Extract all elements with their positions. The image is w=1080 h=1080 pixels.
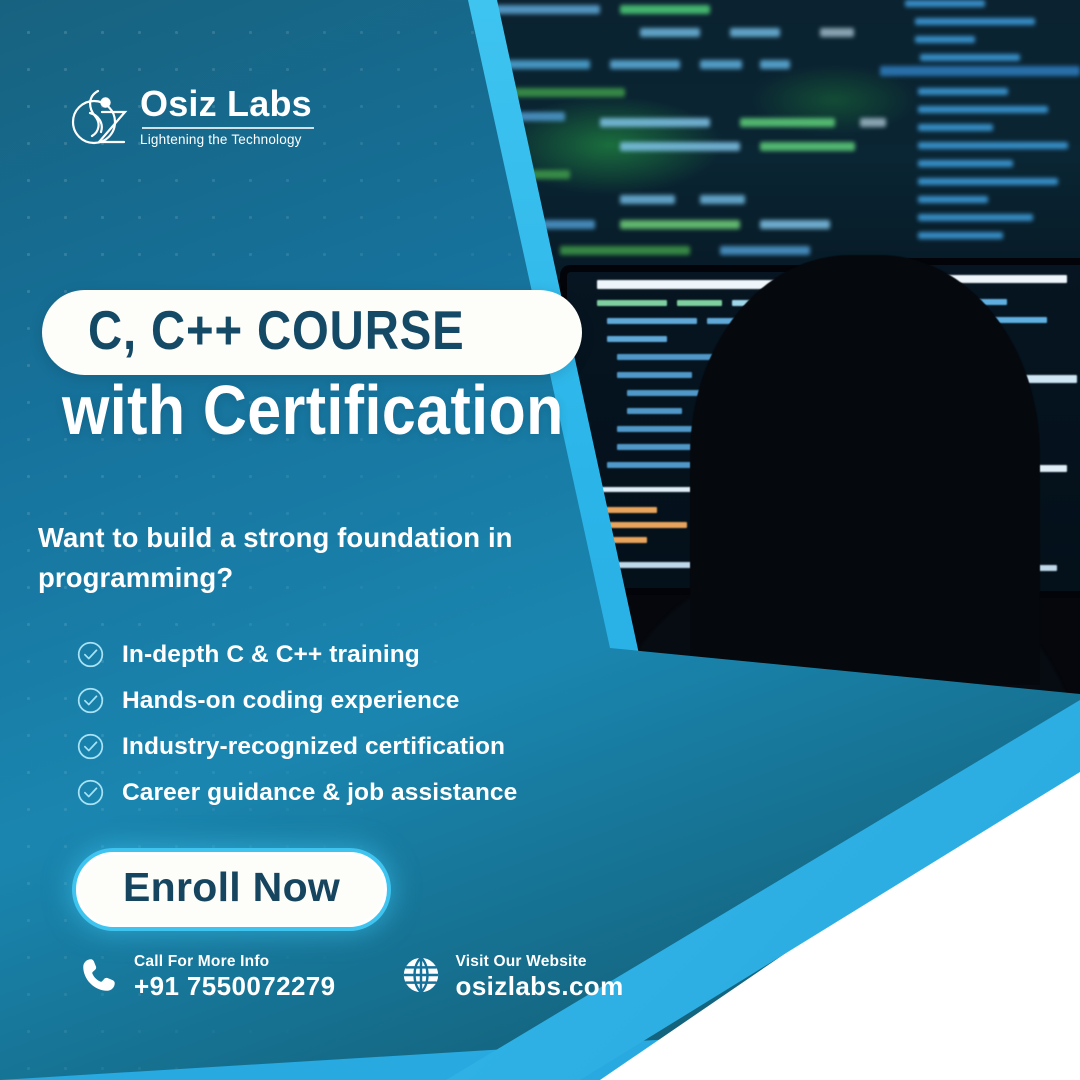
check-circle-icon xyxy=(76,732,105,761)
contact-strip: Call For More Info +91 7550072279 xyxy=(78,952,624,1003)
osiz-monogram-icon xyxy=(68,82,130,150)
enroll-now-label: Enroll Now xyxy=(123,867,340,908)
logo-divider xyxy=(142,127,314,129)
check-circle-icon xyxy=(76,778,105,807)
list-item: In-depth C & C++ training xyxy=(76,640,517,669)
headline-course-title: C, C++ COURSE xyxy=(88,303,465,358)
feature-label: Industry-recognized certification xyxy=(122,733,505,761)
headline-pill: C, C++ COURSE xyxy=(42,290,582,375)
contact-phone[interactable]: Call For More Info +91 7550072279 xyxy=(78,952,336,1003)
brand-tagline: Lightening the Technology xyxy=(140,133,312,147)
subheadline: Want to build a strong foundation in pro… xyxy=(38,518,568,598)
list-item: Career guidance & job assistance xyxy=(76,778,517,807)
headline-secondary: with Certification xyxy=(62,375,564,445)
contact-phone-value: +91 7550072279 xyxy=(134,971,336,1002)
enroll-now-button[interactable]: Enroll Now xyxy=(76,852,387,927)
list-item: Hands-on coding experience xyxy=(76,686,517,715)
feature-label: In-depth C & C++ training xyxy=(122,641,420,669)
promo-graphic: Osiz Labs Lightening the Technology C, C… xyxy=(0,0,1080,1080)
list-item: Industry-recognized certification xyxy=(76,732,517,761)
feature-list: In-depth C & C++ training Hands-on codin… xyxy=(76,640,517,807)
globe-icon xyxy=(400,954,442,1001)
brand-name: Osiz Labs xyxy=(140,86,312,122)
phone-icon xyxy=(78,954,120,1001)
check-circle-icon xyxy=(76,640,105,669)
brand-logo[interactable]: Osiz Labs Lightening the Technology xyxy=(68,82,312,150)
contact-phone-label: Call For More Info xyxy=(134,952,336,971)
contact-website[interactable]: Visit Our Website osizlabs.com xyxy=(400,952,624,1003)
check-circle-icon xyxy=(76,686,105,715)
contact-website-value: osizlabs.com xyxy=(456,971,624,1002)
feature-label: Career guidance & job assistance xyxy=(122,779,517,807)
contact-website-label: Visit Our Website xyxy=(456,952,624,971)
feature-label: Hands-on coding experience xyxy=(122,687,460,715)
